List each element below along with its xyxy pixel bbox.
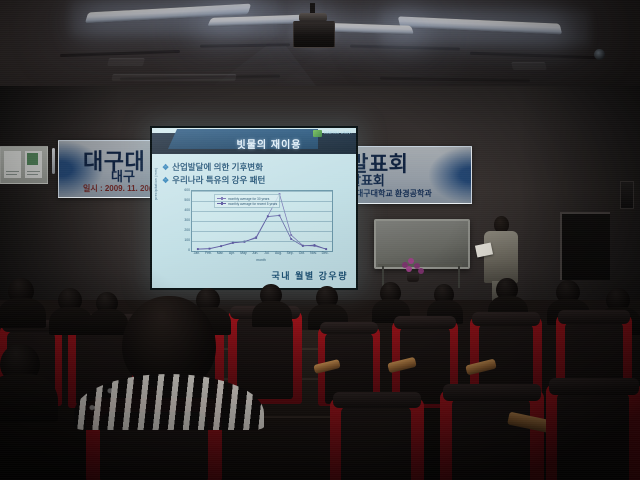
projection-screen: 빗물의 재이용 DAEGU UNIV. ❖산업발달에 의한 기후변화 ❖우리나라… [150,126,358,290]
chart-x-tick: Jun. [252,251,258,255]
chart-marker [209,248,211,250]
chart-x-tick: Sep. [287,251,294,255]
chart-y-tick: 0 [188,248,190,252]
whiteboard-leg-right [458,266,460,288]
legend-label-1: monthly average for recent 5 years [228,202,277,206]
chart-x-tick: Nov. [310,251,317,255]
auditorium-seat[interactable] [546,378,640,480]
chart-y-tick: 400 [184,208,190,212]
slide-bullet-1: ❖산업발달에 의한 기후변화 [162,161,263,173]
chart-y-tick: 300 [184,218,190,222]
chart-marker [290,238,292,240]
presenter-coat [484,231,518,283]
slide-caption: 국내 월별 강우량 [272,269,348,282]
chart-marker [232,242,234,244]
chart-y-tick: 600 [184,188,190,192]
auditorium-seat[interactable] [440,384,560,480]
chart-x-tick: Jan. [194,251,200,255]
slide-bullet-2-text: 우리나라 특유의 강우 패턴 [172,175,265,185]
chart-x-tick: Feb. [205,251,212,255]
auditorium-seat[interactable] [330,392,440,480]
logo-mark-icon [313,130,322,137]
lecture-hall-photo: 대구대 대구 일시 : 2009. 11. 20(금) 발표회 발표회 : 대구… [0,0,640,480]
flower-arrangement [398,258,428,280]
chart-marker [279,215,281,217]
legend-swatch-icon [217,198,226,199]
chart-marker [255,237,257,239]
wall-tube-fixture [52,148,55,174]
chart-gridline [192,221,332,222]
chart-x-tick: Oct. [299,251,305,255]
chart-gridline [192,211,332,212]
university-logo: DAEGU UNIV. [313,130,352,137]
chart-marker [267,216,269,218]
chart-y-tick: 100 [184,238,190,242]
chart-x-tick: Mar. [217,251,224,255]
chart-y-axis-labels: 0100200300400500600 [176,190,191,250]
chart-gridline [192,231,332,232]
chart-y-axis-title: precipitation (mm) [154,142,158,200]
chart-x-axis-title: month [191,258,331,262]
wall-poster [0,146,48,184]
chart-marker [197,248,199,250]
chart-plot-area: monthly average for 30 years monthly ave… [191,190,333,252]
legend-swatch-icon [217,203,226,204]
chart-marker [302,245,304,247]
chart-marker [314,244,316,246]
chart-marker [220,245,222,247]
audience-member-foreground [104,296,234,426]
flower-vase [407,273,419,282]
presentation-slide: 빗물의 재이용 DAEGU UNIV. ❖산업발달에 의한 기후변화 ❖우리나라… [152,128,356,288]
logo-text: DAEGU UNIV. [324,131,352,135]
ceiling-projector [293,21,335,48]
slide-title: 빗물의 재이용 [204,136,334,151]
banner-right: 발표회 발표회 : 대구대학교 환경공학과 [342,146,472,204]
chart-marker [290,234,292,236]
bullet-marker-icon: ❖ [162,176,169,185]
chart-x-tick: Dec. [322,251,329,255]
bullet-marker-icon: ❖ [162,163,169,172]
slide-bullet-1-text: 산업발달에 의한 기후변화 [172,162,263,172]
chart-y-tick: 200 [184,228,190,232]
projector-lens [594,49,605,60]
chart-x-tick: Aug. [275,251,282,255]
chart-x-tick: Apr. [229,251,235,255]
chart-marker [325,248,327,250]
slide-bullet-2: ❖우리나라 특유의 강우 패턴 [162,174,265,186]
chart-x-tick: Jul. [264,251,269,255]
chart-x-tick: May [240,251,246,255]
wall-speaker [620,181,634,209]
legend-label-0: monthly average for 30 years [228,197,269,201]
chart-y-tick: 500 [184,198,190,202]
side-door [560,212,610,280]
rainfall-line-chart: precipitation (mm) 0100200300400500600 m… [176,190,338,268]
chart-gridline [192,201,332,202]
chart-gridline [192,241,332,242]
chart-gridline [192,191,332,192]
